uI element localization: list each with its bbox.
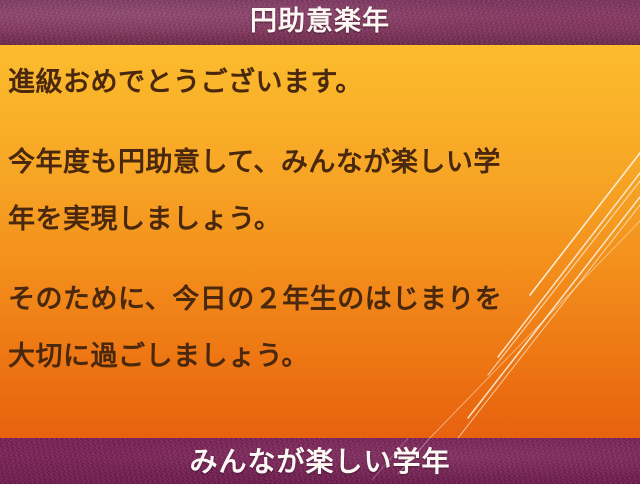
paragraph-2-line-1: 今年度も円助意して、みんなが楽しい学 — [8, 134, 632, 191]
presentation-slide: 円助意楽年 進級おめでとうございます。 今年度も円助意して、みんなが楽しい学 年… — [0, 0, 640, 484]
paragraph-2: 今年度も円助意して、みんなが楽しい学 年を実現しましょう。 — [8, 134, 632, 248]
paragraph-3-line-1: そのために、今日の２年生のはじまりを — [8, 271, 632, 328]
slide-body-text: 進級おめでとうございます。 今年度も円助意して、みんなが楽しい学 年を実現しまし… — [8, 45, 632, 385]
paragraph-1-line-1: 進級おめでとうございます。 — [8, 54, 632, 111]
paragraph-1: 進級おめでとうございます。 — [8, 54, 632, 111]
paragraph-2-line-2: 年を実現しましょう。 — [8, 191, 632, 248]
slide-title: 円助意楽年 — [0, 0, 640, 45]
paragraph-3-line-2: 大切に過ごしましょう。 — [8, 328, 632, 385]
slide-footer-bar: みんなが楽しい学年 — [0, 438, 640, 484]
paragraph-3: そのために、今日の２年生のはじまりを 大切に過ごしましょう。 — [8, 271, 632, 385]
slide-header-bar: 円助意楽年 — [0, 0, 640, 45]
slide-body: 進級おめでとうございます。 今年度も円助意して、みんなが楽しい学 年を実現しまし… — [0, 45, 640, 438]
slide-footer-title: みんなが楽しい学年 — [0, 438, 640, 484]
